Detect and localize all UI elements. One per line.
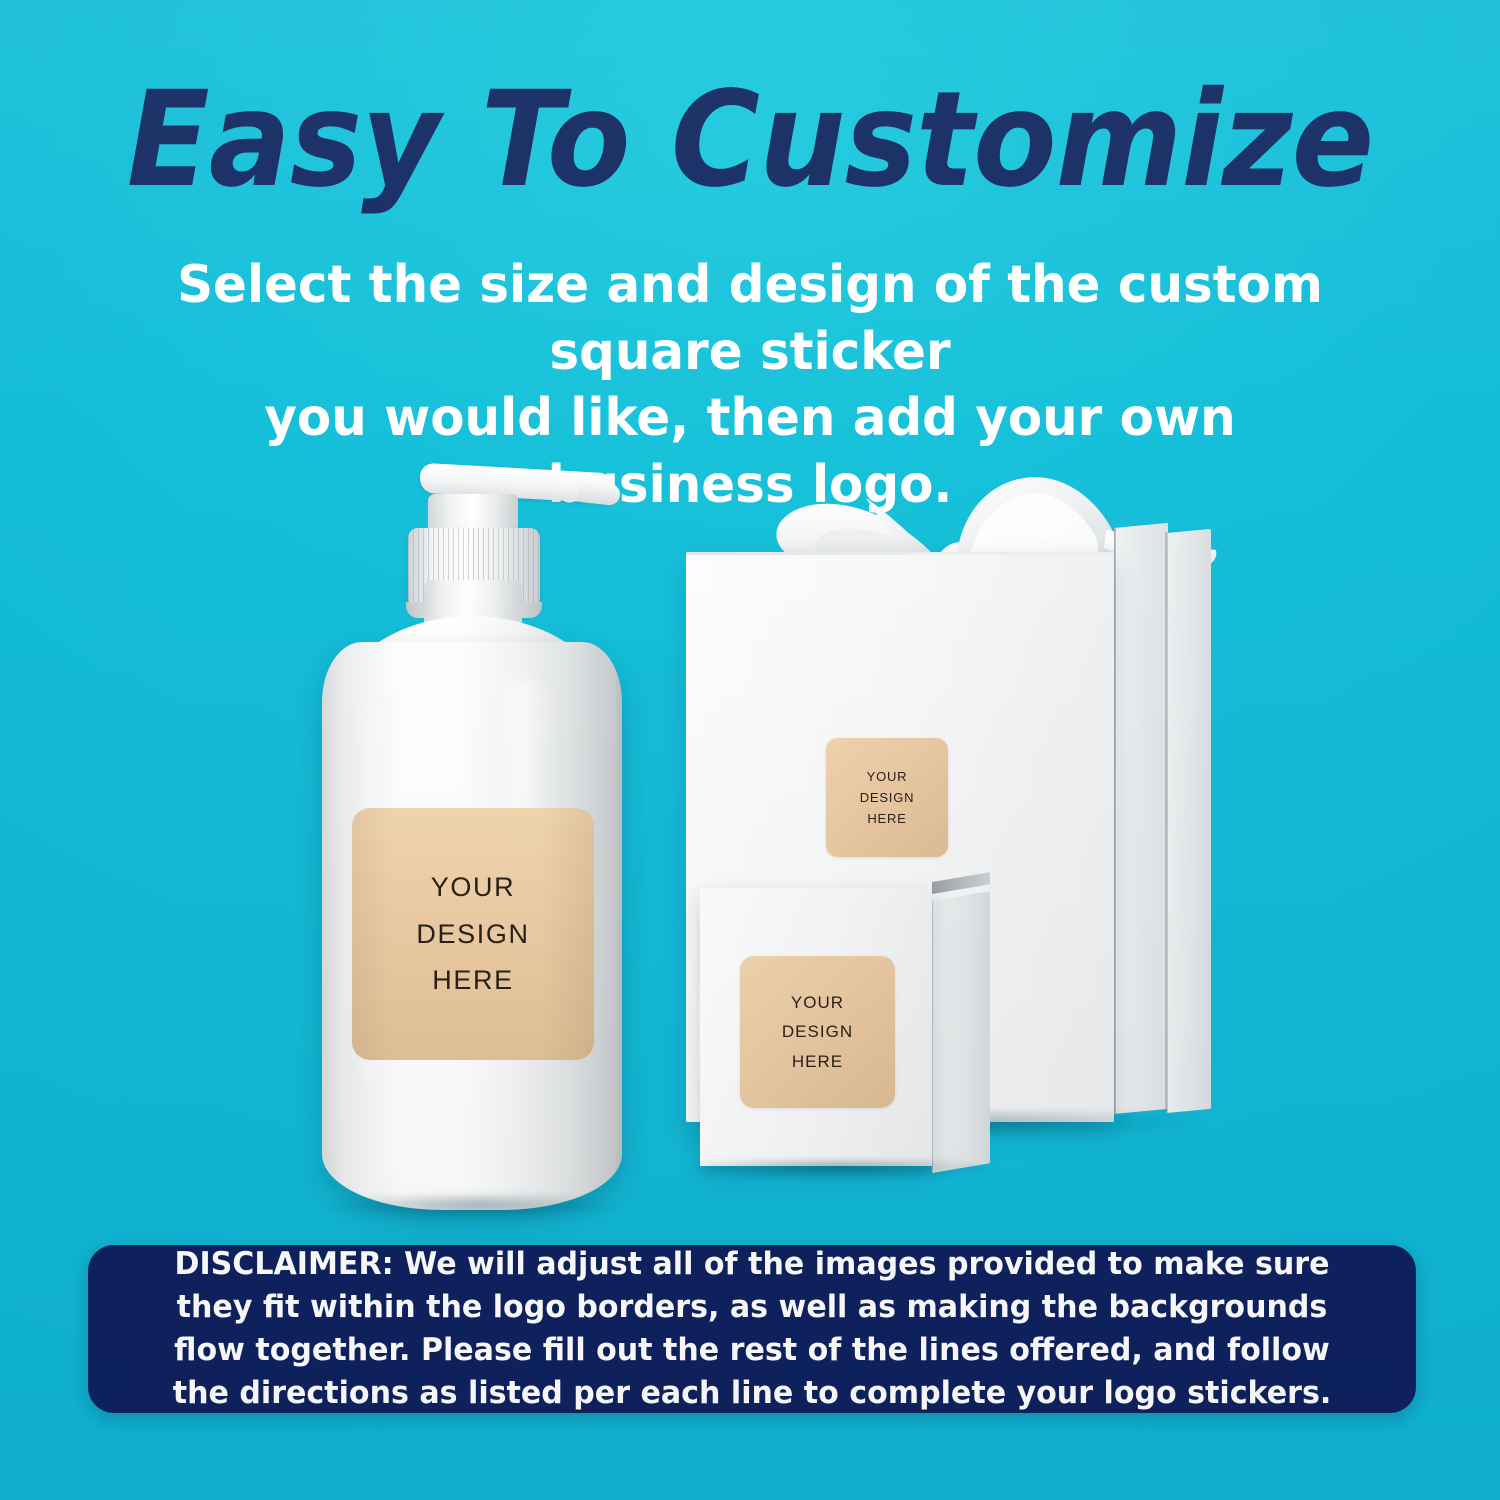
sticker-on-small-box[interactable]: YOUR DESIGN HERE — [740, 956, 895, 1108]
background-stage: Easy To Customize Select the size and de… — [0, 0, 1500, 1500]
product-mockup-scene: YOUR DESIGN HERE YOUR DESIGN HERE — [0, 400, 1500, 1230]
sticker-line-1: YOUR — [791, 988, 844, 1017]
gift-box-side-panel — [1114, 523, 1168, 1114]
sticker-line-3: HERE — [867, 808, 906, 829]
pump-bottle: YOUR DESIGN HERE — [300, 430, 660, 1220]
disclaimer-banner: DISCLAIMER: We will adjust all of the im… — [88, 1245, 1416, 1413]
sticker-line-2: DESIGN — [416, 911, 529, 957]
sticker-line-1: YOUR — [867, 766, 908, 787]
sticker-line-2: DESIGN — [860, 787, 915, 808]
bottle-shadow — [326, 1196, 622, 1220]
sticker-line-1: YOUR — [431, 864, 516, 910]
subtitle-line-1: Select the size and design of the custom… — [136, 252, 1365, 385]
gift-box-seam — [1114, 528, 1116, 1116]
page-title: Easy To Customize — [60, 74, 1440, 206]
small-box-side-panel — [932, 891, 990, 1173]
sticker-on-gift-box[interactable]: YOUR DESIGN HERE — [826, 738, 948, 857]
pump-nozzle-tip — [578, 480, 620, 506]
sticker-line-3: HERE — [432, 957, 514, 1003]
disclaimer-text: DISCLAIMER: We will adjust all of the im… — [149, 1243, 1356, 1414]
gift-box-back-panel — [1167, 529, 1211, 1113]
sticker-on-bottle[interactable]: YOUR DESIGN HERE — [352, 808, 594, 1060]
sticker-line-2: DESIGN — [782, 1017, 853, 1046]
sticker-line-3: HERE — [792, 1047, 843, 1076]
disclaimer-label: DISCLAIMER: — [174, 1246, 393, 1282]
gift-box-seam-2 — [1165, 532, 1167, 1114]
small-product-box: YOUR DESIGN HERE — [700, 888, 1000, 1190]
small-box-shadow — [702, 1160, 1002, 1180]
